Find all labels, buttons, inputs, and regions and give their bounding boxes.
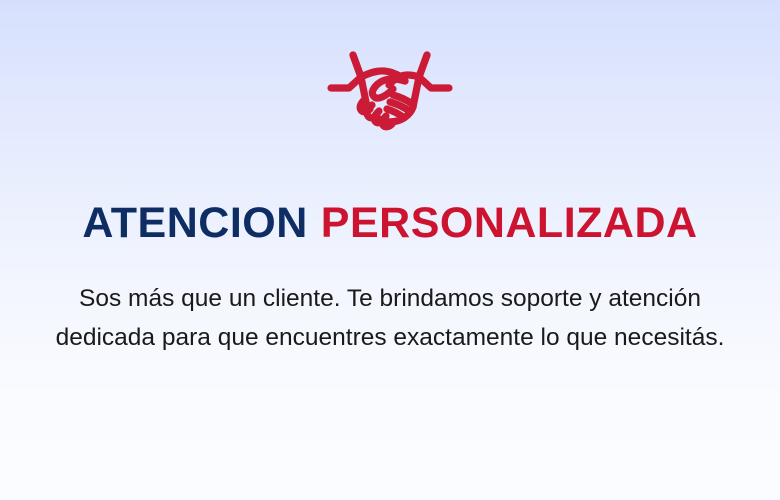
description-line-1: Sos más que un cliente. Te brindamos sop…	[0, 279, 780, 318]
headline-word-primary: ATENCION	[82, 199, 307, 247]
handshake-icon	[327, 47, 453, 133]
hero-description: Sos más que un cliente. Te brindamos sop…	[0, 279, 780, 357]
hero-icon-container	[0, 44, 780, 136]
hero-section: ATENCIONPERSONALIZADA Sos más que un cli…	[0, 0, 780, 500]
headline-word-accent: PERSONALIZADA	[321, 199, 698, 247]
page-title: ATENCIONPERSONALIZADA	[0, 198, 780, 248]
description-line-2: dedicada para que encuentres exactamente…	[0, 318, 780, 357]
